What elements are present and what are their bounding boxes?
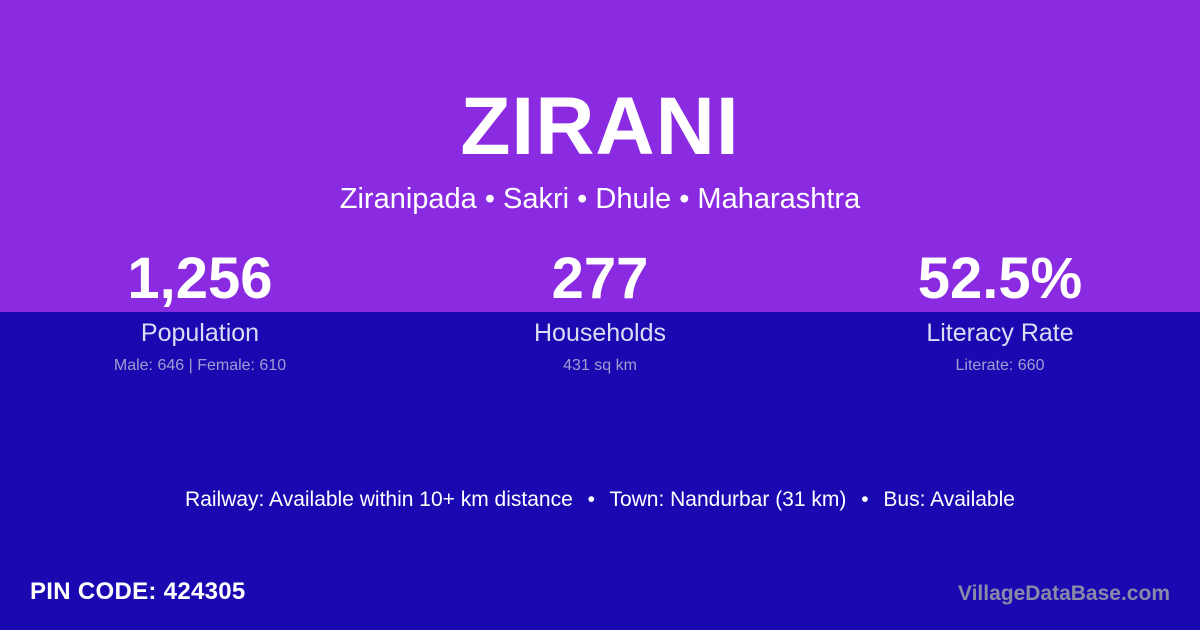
stat-literacy: 52.5% Literacy Rate Literate: 660: [800, 248, 1200, 376]
amenity-nearest-town: Town: Nandurbar (31 km): [609, 488, 846, 511]
stat-literacy-count: Literate: 660: [800, 356, 1200, 376]
amenities-line: Railway: Available within 10+ km distanc…: [0, 486, 1200, 514]
stat-households-area: 431 sq km: [400, 356, 800, 376]
amenity-bus: Bus: Available: [883, 488, 1015, 511]
card-footer: PIN CODE: 424305 VillageDataBase.com: [0, 572, 1200, 630]
village-info-card: ZIRANI Ziranipada • Sakri • Dhule • Maha…: [0, 0, 1200, 630]
village-name-title: ZIRANI: [0, 82, 1200, 172]
stat-literacy-value: 52.5%: [800, 248, 1200, 310]
stat-population-value: 1,256: [0, 248, 400, 310]
village-location-breadcrumb: Ziranipada • Sakri • Dhule • Maharashtra: [0, 181, 1200, 217]
amenities-separator-2: •: [852, 486, 877, 514]
amenity-railway: Railway: Available within 10+ km distanc…: [185, 488, 573, 511]
stat-households-value: 277: [400, 248, 800, 310]
statistics-row: 1,256 Population Male: 646 | Female: 610…: [0, 248, 1200, 376]
pin-code-label: PIN CODE: 424305: [30, 577, 246, 607]
stat-population-label: Population: [0, 318, 400, 348]
amenities-separator-1: •: [579, 486, 604, 514]
stat-households: 277 Households 431 sq km: [400, 248, 800, 376]
site-brand-watermark: VillageDataBase.com: [958, 580, 1170, 607]
stat-population: 1,256 Population Male: 646 | Female: 610: [0, 248, 400, 376]
stat-literacy-label: Literacy Rate: [800, 318, 1200, 348]
stat-population-breakdown: Male: 646 | Female: 610: [0, 356, 400, 376]
stat-households-label: Households: [400, 318, 800, 348]
